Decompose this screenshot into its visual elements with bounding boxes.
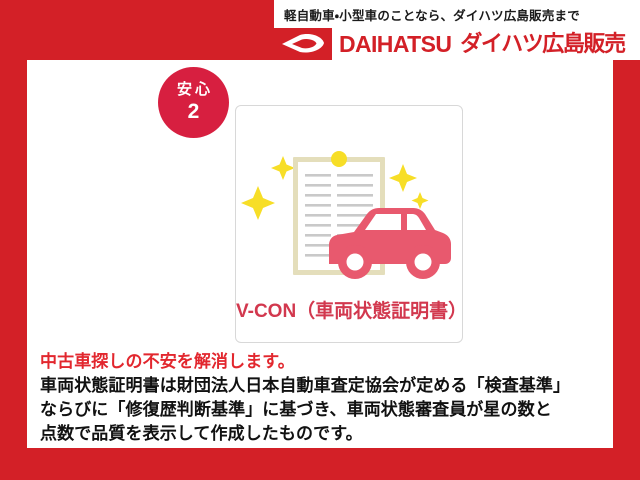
description-headline: 中古車探しの不安を解消します。 xyxy=(40,350,606,374)
header-branding-block: 軽自動車・小型車のことなら、ダイハツ広島販売まで DAIHATSU ダイハツ広島… xyxy=(274,0,640,60)
promo-banner: 軽自動車・小型車のことなら、ダイハツ広島販売まで DAIHATSU ダイハツ広島… xyxy=(0,0,640,480)
vcon-caption: V-CON（車両状態証明書） xyxy=(236,296,462,323)
daihatsu-d-emblem-icon xyxy=(274,28,332,60)
brand-name-japanese: ダイハツ広島販売 xyxy=(460,33,624,55)
sparkle-star-icon xyxy=(389,164,429,209)
anshin-badge-number: 2 xyxy=(188,100,200,123)
vcon-illustration xyxy=(236,124,462,284)
vcon-panel: V-CON（車両状態証明書） xyxy=(235,105,463,343)
description-body-line: ならびに「修復歴判断基準」に基づき、車両状態審査員が星の数と xyxy=(40,398,606,422)
brand-logo-bar: DAIHATSU ダイハツ広島販売 xyxy=(274,28,640,60)
content-card: 安心 2 xyxy=(27,60,613,448)
brand-name-latin: DAIHATSU xyxy=(339,33,451,56)
description-block: 中古車探しの不安を解消します。 車両状態証明書は財団法人日本自動車査定協会が定め… xyxy=(40,350,606,447)
anshin-badge-label: 安心 xyxy=(174,82,213,99)
brand-logo-text: DAIHATSU ダイハツ広島販売 xyxy=(332,28,640,60)
description-body-line: 点数で品質を表示して作成したものです。 xyxy=(40,422,606,446)
anshin-badge: 安心 2 xyxy=(158,67,229,138)
sparkle-star-icon xyxy=(241,156,295,220)
description-body-line: 車両状態証明書は財団法人日本自動車査定協会が定める「検査基準」 xyxy=(40,374,606,398)
description-body: 車両状態証明書は財団法人日本自動車査定協会が定める「検査基準」 ならびに「修復歴… xyxy=(40,374,606,446)
header-tagline: 軽自動車・小型車のことなら、ダイハツ広島販売まで xyxy=(274,0,640,28)
header-bar: 軽自動車・小型車のことなら、ダイハツ広島販売まで DAIHATSU ダイハツ広島… xyxy=(0,0,640,60)
